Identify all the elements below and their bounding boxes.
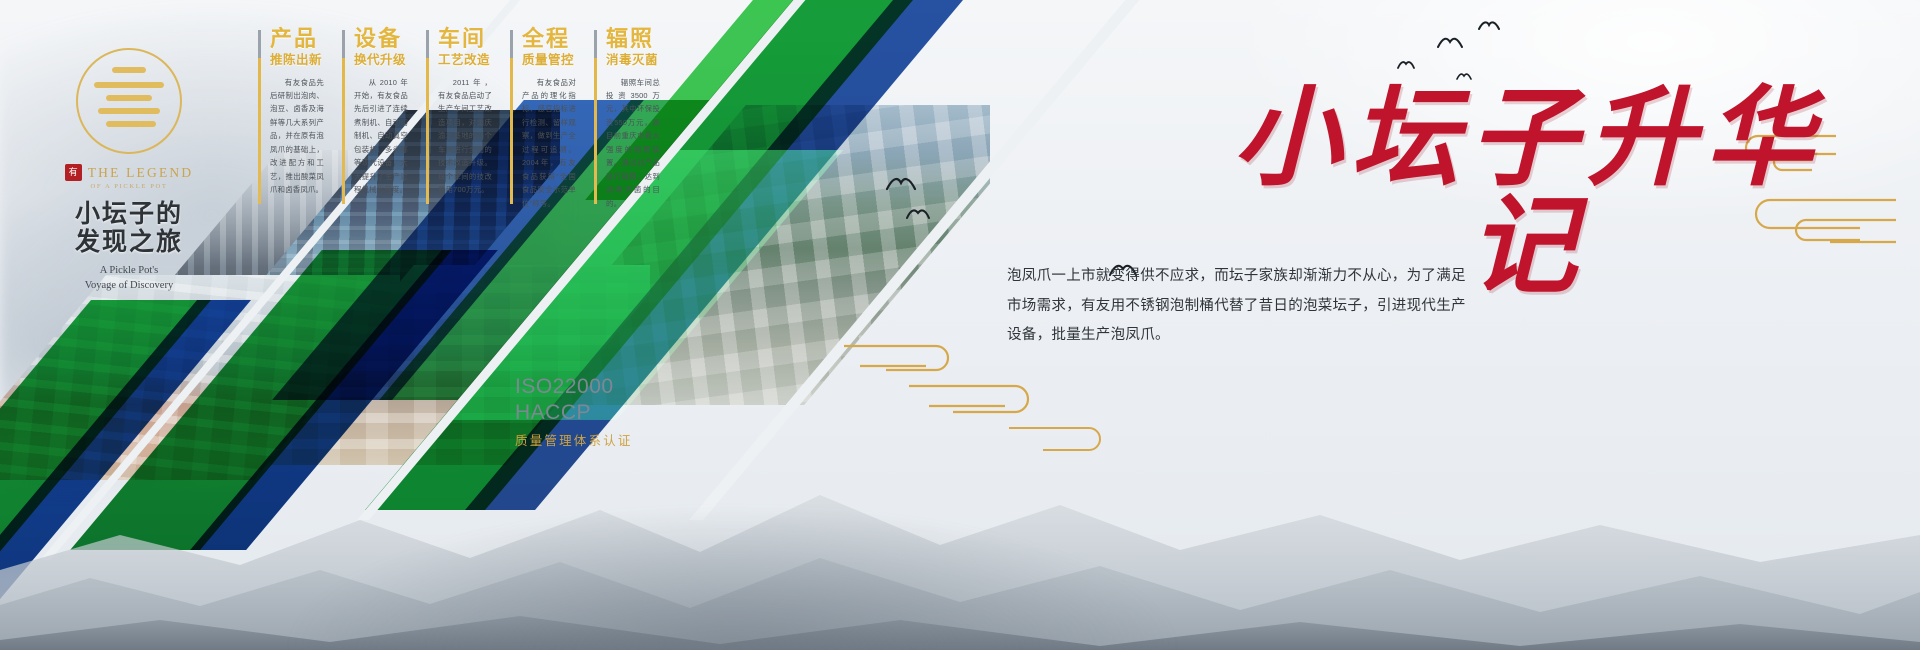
card-heading-main: 设备	[354, 28, 408, 50]
card-body-text: 2011年，有友食品启动了生产车间工艺改造项目，对重庆渝北基地的四个车间进行全面…	[438, 76, 492, 197]
bird-icon	[1397, 60, 1415, 70]
card-heading-main: 产品	[270, 28, 324, 50]
bird-icon	[1478, 20, 1500, 32]
ink-mountain-wash	[170, 350, 1420, 650]
card-body-text: 有友食品对产品的理化指标、感官指标进行检测、留样观察，做到生产全过程可追溯。20…	[522, 76, 576, 211]
card-heading: 辐照 消毒灭菌	[606, 28, 660, 67]
brand-title-cn: 小坛子的 发现之旅	[36, 200, 222, 256]
card-heading-main: 车间	[438, 28, 492, 50]
card-heading-sub: 推陈出新	[270, 54, 324, 67]
info-card-workshop[interactable]: 车间 工艺改造 2011年，有友食品启动了生产车间工艺改造项目，对重庆渝北基地的…	[426, 28, 492, 210]
pickle-pot-seal-icon	[76, 48, 182, 154]
brand-title-en-line1: A Pickle Pot's	[100, 265, 158, 276]
card-accent-bar	[258, 30, 261, 204]
brand-legend: 有 THE LEGEND	[36, 164, 222, 181]
card-body-text: 有友食品先后研制出泡肉、泡豆、卤香及海鲜等几大系列产品，并在原有泡凤爪的基础上，…	[270, 76, 324, 197]
card-heading-sub: 质量管控	[522, 54, 576, 67]
card-accent-bar	[594, 30, 597, 204]
brand-title-en-line2: Voyage of Discovery	[85, 280, 173, 291]
info-card-irradiation[interactable]: 辐照 消毒灭菌 辐照车间总投资3500万元，其中环保投资550万元，是目前重庆市…	[594, 28, 660, 210]
brand-legend-en: THE LEGEND	[88, 165, 194, 181]
card-accent-bar	[342, 30, 345, 204]
gold-cloud-decoration-bottom-left	[1005, 418, 1125, 458]
bird-icon	[1437, 36, 1463, 50]
brand-block: 有 THE LEGEND OF A PICKLE POT 小坛子的 发现之旅 A…	[36, 48, 222, 293]
info-card-list: 产品 推陈出新 有友食品先后研制出泡肉、泡豆、卤香及海鲜等几大系列产品，并在原有…	[258, 28, 660, 210]
hero-paragraph: 泡凤爪一上市就变得供不应求，而坛子家族却渐渐力不从心，为了满足市场需求，有友用不…	[1007, 262, 1479, 351]
card-accent-bar	[510, 30, 513, 204]
card-heading: 全程 质量管控	[522, 28, 576, 67]
bird-icon	[906, 208, 930, 221]
brand-title-cn-line2: 发现之旅	[75, 228, 183, 256]
card-heading-sub: 换代升级	[354, 54, 408, 67]
banner-canvas: 有 THE LEGEND OF A PICKLE POT 小坛子的 发现之旅 A…	[0, 0, 1920, 650]
brand-stamp-icon: 有	[65, 164, 82, 181]
seal-glyph	[92, 65, 166, 137]
certification-haccp-label: HACCP	[515, 400, 633, 426]
info-card-equipment[interactable]: 设备 换代升级 从2010年开始，有友食品先后引进了连续煮制机、自动切制机、自动…	[342, 28, 408, 210]
brand-legend-sub-en: OF A PICKLE POT	[36, 183, 222, 190]
card-heading: 产品 推陈出新	[270, 28, 324, 67]
card-body-text: 从2010年开始，有友食品先后引进了连续煮制机、自动切制机、自动真空包装机、多头…	[354, 76, 408, 197]
bird-icon	[886, 176, 916, 192]
card-heading-main: 辐照	[606, 28, 660, 50]
info-card-quality[interactable]: 全程 质量管控 有友食品对产品的理化指标、感官指标进行检测、留样观察，做到生产全…	[510, 28, 576, 210]
certification-iso-label: ISO22000	[515, 374, 633, 400]
card-heading-sub: 工艺改造	[438, 54, 492, 67]
card-heading-sub: 消毒灭菌	[606, 54, 660, 67]
certification-cn-label: 质量管理体系认证	[515, 430, 633, 449]
info-card-product[interactable]: 产品 推陈出新 有友食品先后研制出泡肉、泡豆、卤香及海鲜等几大系列产品，并在原有…	[258, 28, 324, 210]
card-heading: 车间 工艺改造	[438, 28, 492, 67]
card-heading: 设备 换代升级	[354, 28, 408, 67]
card-body-text: 辐照车间总投资3500万元，其中环保投资550万元，是目前重庆市最大强度的辐照装…	[606, 76, 660, 211]
card-accent-bar	[426, 30, 429, 204]
brand-title-en: A Pickle Pot's Voyage of Discovery	[36, 263, 222, 293]
certification-block: ISO22000 HACCP 质量管理体系认证	[515, 374, 633, 449]
brand-title-cn-line1: 小坛子的	[75, 200, 183, 228]
card-heading-main: 全程	[522, 28, 576, 50]
